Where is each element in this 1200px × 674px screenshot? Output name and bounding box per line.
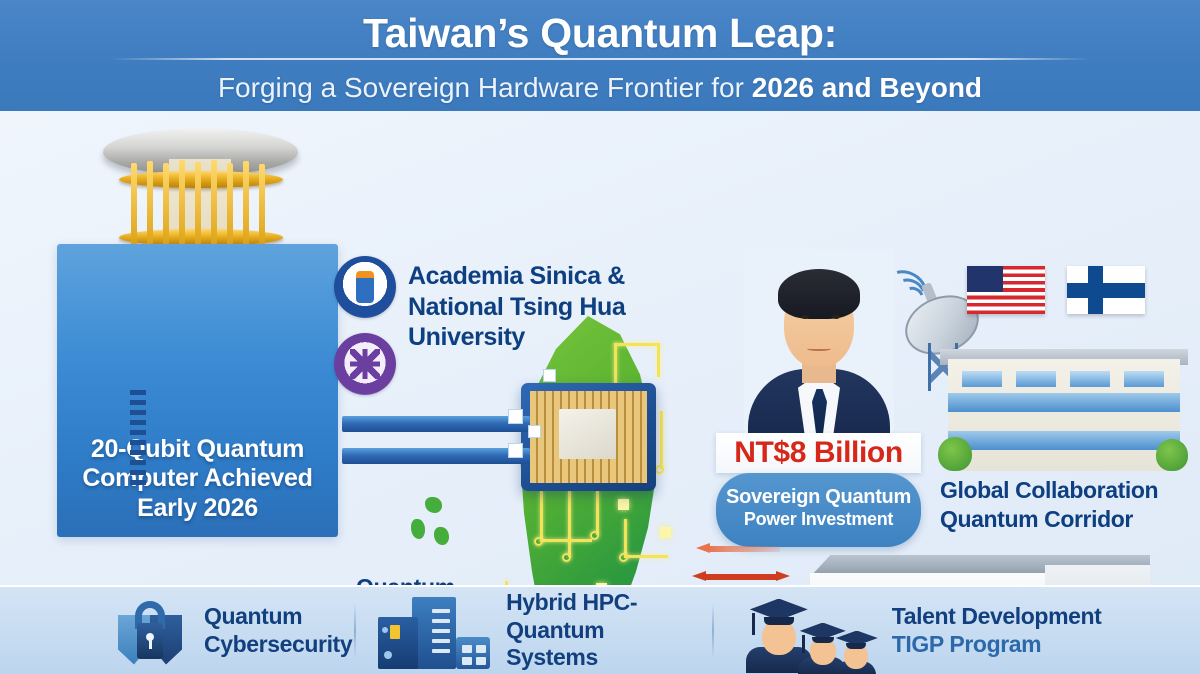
official-portrait-icon (744, 249, 894, 445)
interconnect-via (508, 409, 523, 424)
cap-band (764, 617, 794, 625)
facility-window-band (948, 431, 1180, 450)
circuit-pad (660, 527, 671, 538)
padlock-keyhole (146, 633, 154, 641)
portrait-hair (778, 269, 860, 319)
facility-window (962, 371, 1002, 387)
exchange-arrow-double (692, 571, 790, 582)
quantum-computer-card: 20-Qubit Quantum Computer Achieved Early… (57, 244, 338, 537)
hpc-line-2: Systems (506, 644, 712, 672)
global-collaboration-label: Global Collaboration Quantum Corridor (940, 476, 1198, 534)
circuit-trace (657, 343, 660, 377)
rack-slot (432, 649, 450, 653)
rack-slot (432, 609, 450, 613)
circuit-trace (624, 555, 668, 558)
circuit-trace (614, 343, 660, 346)
interconnect-via (528, 425, 541, 438)
circuit-trace (660, 411, 663, 469)
investment-pill-line-2: Power Investment (716, 509, 921, 531)
quantum-bus-line (342, 448, 530, 464)
facility-window-band (948, 393, 1180, 412)
facility-window (1124, 371, 1164, 387)
facility-window (1016, 371, 1056, 387)
facility-tree (938, 437, 972, 471)
portrait-eye (801, 315, 809, 319)
quantum-caption-line-2: Computer Achieved (57, 464, 338, 494)
module-panel (462, 657, 472, 665)
global-collab-line-2: Quantum Corridor (940, 505, 1198, 534)
feature-label: Hybrid HPC-Quantum Systems (506, 589, 712, 672)
subtitle-prefix: Forging a Sovereign Hardware Frontier fo… (218, 72, 752, 103)
national-tsing-hua-university-seal-icon (334, 333, 396, 395)
feature-quantum-cybersecurity[interactable]: Quantum Cybersecurity (0, 586, 354, 674)
facility-tree (1156, 439, 1188, 471)
arrow-shaft (705, 574, 777, 580)
exchange-arrow-faded (696, 543, 780, 554)
circuit-trace (624, 519, 627, 557)
cap-band (812, 637, 834, 643)
interconnect-via (543, 369, 556, 382)
arrow-head-left (696, 543, 710, 553)
rack-slot (432, 639, 450, 643)
feature-label: Talent Development TIGP Program (892, 603, 1102, 658)
rack-indicator (384, 651, 392, 659)
module-panel (476, 657, 486, 665)
rack-indicator (382, 627, 388, 633)
module-panel (462, 645, 472, 653)
hpc-line-1: Hybrid HPC-Quantum (506, 589, 712, 644)
offshore-islet-icon (434, 527, 449, 545)
circuit-trace (540, 539, 592, 542)
subtitle-emphasis: 2026 and Beyond (752, 72, 982, 103)
interconnect-via (508, 443, 523, 458)
cybersecurity-line-2: Cybersecurity (204, 631, 352, 659)
poster-header: Taiwan’s Quantum Leap: Forging a Soverei… (0, 0, 1200, 111)
cpu-chip-icon (521, 383, 656, 491)
rack-status-light (390, 625, 400, 639)
graduates-icon (742, 593, 876, 669)
shield-lock-icon (112, 593, 188, 669)
united-states-flag-icon (967, 266, 1045, 314)
infographic-body: 20-Qubit Quantum Computer Achieved Early… (0, 111, 1200, 585)
institutions-line-3: University (408, 322, 668, 353)
feature-hybrid-hpc-quantum[interactable]: Hybrid HPC-Quantum Systems (356, 586, 712, 674)
global-collab-line-1: Global Collaboration (940, 476, 1198, 505)
facility-window (1070, 371, 1110, 387)
quantum-computer-caption: 20-Qubit Quantum Computer Achieved Early… (57, 435, 338, 524)
institutions-line-1: Academia Sinica & (408, 261, 668, 292)
page-subtitle: Forging a Sovereign Hardware Frontier fo… (0, 54, 1200, 102)
circuit-pad (618, 499, 629, 510)
circuit-trace (540, 491, 543, 541)
offshore-islet-icon (411, 519, 425, 539)
infographic-poster: Taiwan’s Quantum Leap: Forging a Soverei… (0, 0, 1200, 674)
arrow-head-left (692, 571, 706, 581)
portrait-eye (832, 315, 840, 319)
rack-slot (432, 629, 450, 633)
header-divider (110, 58, 1090, 60)
quantum-caption-line-3: Early 2026 (57, 494, 338, 524)
portrait-mouth (807, 345, 831, 351)
circuit-node (562, 553, 571, 562)
page-title: Taiwan’s Quantum Leap: (0, 0, 1200, 54)
cap-tassel (752, 613, 755, 635)
rack-tower-tall (412, 597, 456, 669)
research-facility-icon (930, 331, 1198, 481)
investment-amount: NT$8 Billion (716, 433, 921, 473)
circuit-trace (568, 491, 571, 557)
circuit-node (534, 537, 543, 546)
quantum-bus-line (342, 416, 530, 432)
feature-label: Quantum Cybersecurity (204, 603, 352, 658)
circuit-node (590, 531, 599, 540)
bottom-feature-row: Quantum Cybersecurity (0, 585, 1200, 674)
feature-talent-development[interactable]: Talent Development TIGP Program (714, 586, 1200, 674)
arrow-shaft (708, 546, 780, 552)
circuit-node (655, 465, 664, 474)
academia-sinica-seal-icon (334, 256, 396, 318)
talent-line-2: TIGP Program (892, 631, 1102, 659)
cap-band (846, 643, 866, 649)
talent-line-1: Talent Development (892, 603, 1102, 631)
institutions-label: Academia Sinica & National Tsing Hua Uni… (408, 261, 668, 353)
chip-die (559, 409, 616, 459)
investment-pill: Sovereign Quantum Power Investment (716, 473, 921, 547)
finland-flag-icon (1067, 266, 1145, 314)
module-panel (476, 645, 486, 653)
investment-amount-banner: NT$8 Billion (716, 433, 921, 473)
chip-pin-row (130, 389, 146, 485)
offshore-islet-icon (425, 497, 442, 513)
server-rack-icon (378, 593, 490, 669)
cybersecurity-line-1: Quantum (204, 603, 352, 631)
circuit-trace (596, 491, 599, 535)
investment-pill-line-1: Sovereign Quantum (716, 473, 921, 509)
quantum-caption-line-1: 20-Qubit Quantum (57, 435, 338, 465)
circuit-node (619, 553, 628, 562)
cap-tassel (802, 635, 805, 653)
institutions-line-2: National Tsing Hua (408, 292, 668, 323)
rack-slot (432, 619, 450, 623)
